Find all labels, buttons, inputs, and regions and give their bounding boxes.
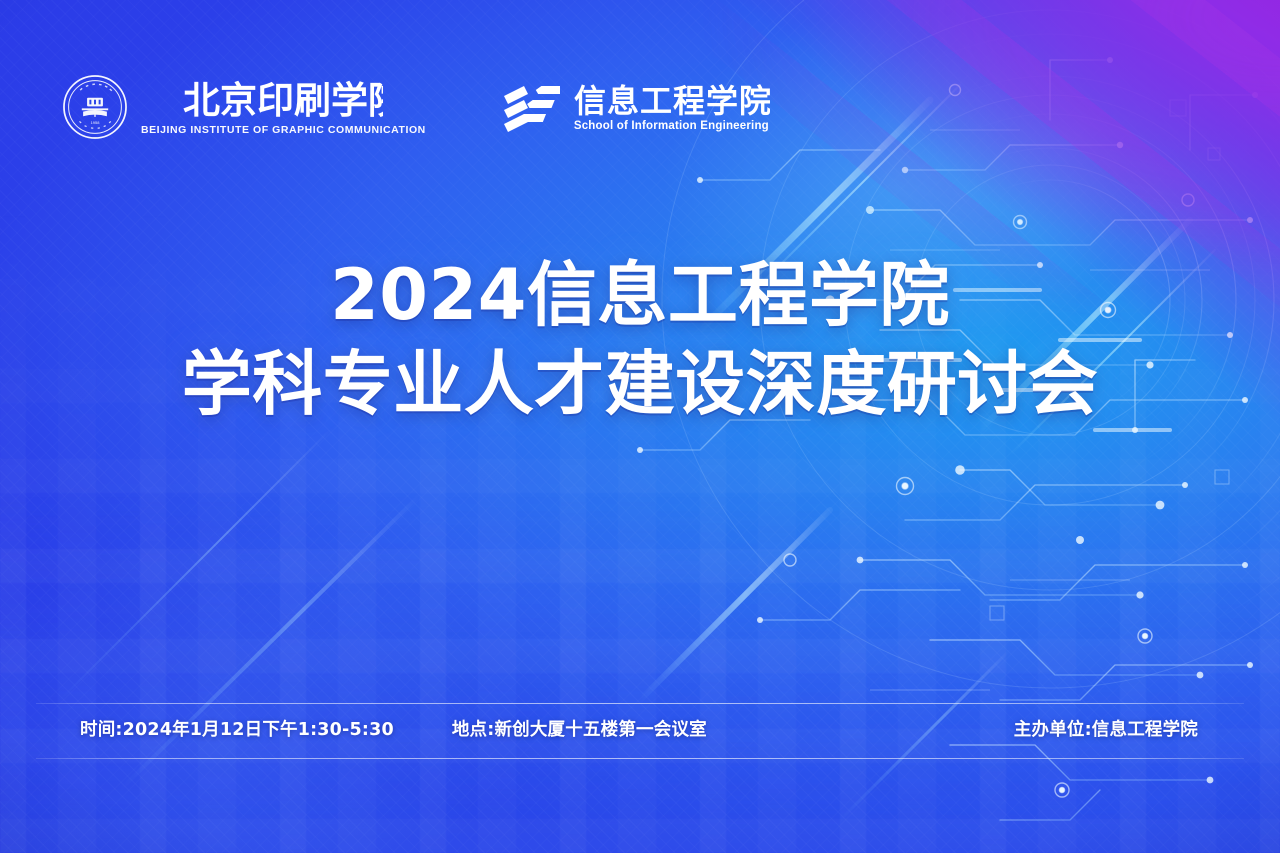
- university-name-cn-text: 北京印刷学院: [183, 79, 383, 122]
- school-name-en: School of Information Engineering: [574, 121, 770, 133]
- school-wave-mark-icon: [502, 82, 560, 132]
- title-line-1: 2024信息工程学院: [0, 258, 1280, 333]
- poster-title: 2024信息工程学院 学科专业人才建设深度研讨会: [0, 258, 1280, 422]
- university-logo: 1958 北京印: [62, 74, 426, 140]
- school-name-cn: 信息工程学院: [574, 82, 770, 119]
- svg-text:1958: 1958: [91, 120, 101, 125]
- university-name-cn: 北京印刷学院: [183, 78, 383, 122]
- logo-bar: 1958 北京印: [62, 74, 770, 140]
- university-name-en: BEIJING INSTITUTE OF GRAPHIC COMMUNICATI…: [141, 125, 426, 136]
- school-name-cn-text: 信息工程学院: [574, 82, 770, 119]
- event-poster: 1958 北京印: [0, 0, 1280, 853]
- event-host: 主办单位:信息工程学院: [1014, 722, 1198, 740]
- title-line-2: 学科专业人才建设深度研讨会: [0, 347, 1280, 422]
- school-logo: 信息工程学院 School of Information Engineering: [502, 82, 770, 133]
- event-info-bar: 时间:2024年1月12日下午1:30-5:30 地点:新创大厦十五楼第一会议室…: [0, 703, 1280, 759]
- event-place: 地点:新创大厦十五楼第一会议室: [452, 722, 707, 740]
- university-seal-icon: 1958: [62, 74, 128, 140]
- event-time: 时间:2024年1月12日下午1:30-5:30: [80, 722, 394, 740]
- school-wordmark: 信息工程学院 School of Information Engineering: [574, 82, 770, 133]
- university-wordmark: 北京印刷学院 BEIJING INSTITUTE OF GRAPHIC COMM…: [141, 78, 426, 136]
